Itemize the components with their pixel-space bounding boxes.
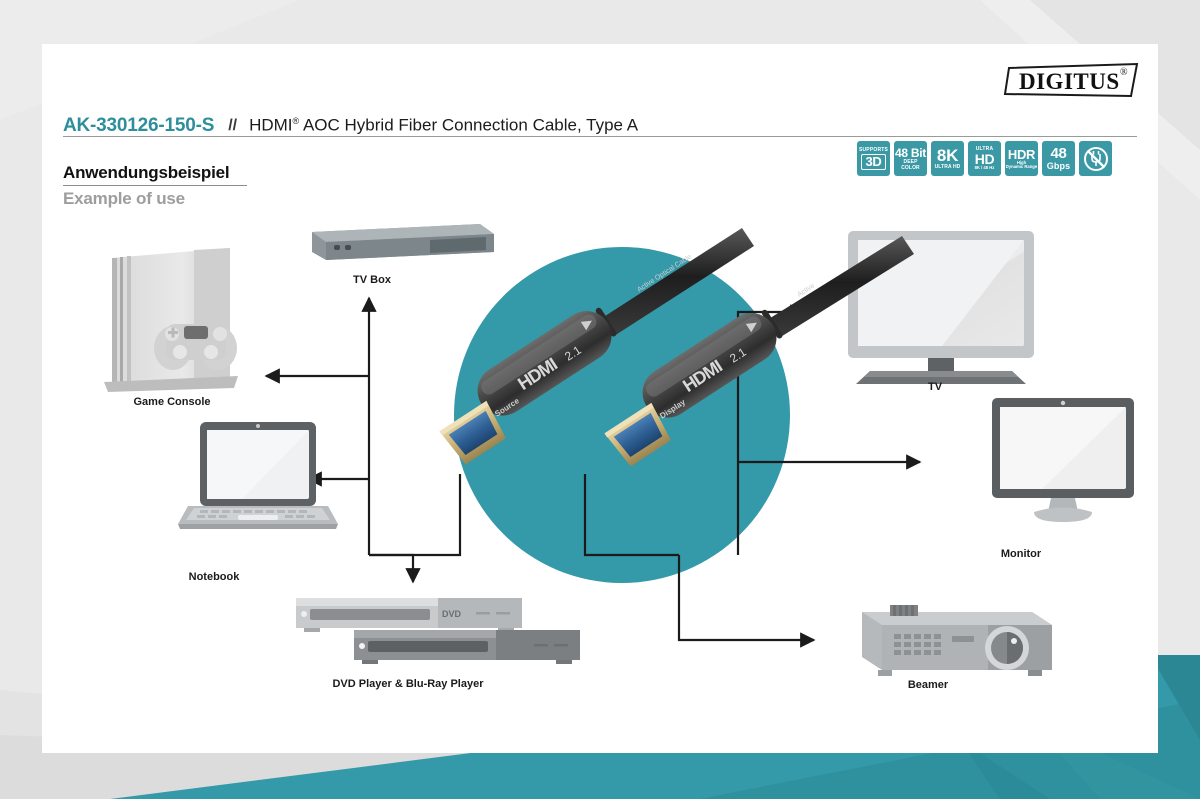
badge-hdr: HDR High Dynamic Range	[1005, 141, 1038, 176]
badge-hdr-main: HDR	[1008, 148, 1035, 161]
badge-48bit-main: 48 Bit	[895, 147, 926, 159]
section-heading-de: Anwendungsbeispiel	[63, 163, 229, 183]
label-beamer: Beamer	[908, 679, 948, 691]
device-beamer	[862, 605, 1052, 676]
diagram-canvas: DVD	[42, 200, 1158, 720]
section-heading-divider	[63, 185, 247, 186]
device-notebook	[178, 422, 338, 529]
badge-8k: 8K ULTRA HD	[931, 141, 964, 176]
product-name-post: AOC Hybrid Fiber Connection Cable, Type …	[299, 116, 638, 135]
badge-48gbps: 48 Gbps	[1042, 141, 1075, 176]
badge-3d: SUPPORTS 3D	[857, 141, 890, 176]
page-root: DIGITUS ® AK-330126-150-S // HDMI® AOC H…	[0, 0, 1200, 799]
digitus-logo: DIGITUS ®	[1003, 58, 1143, 102]
feature-badge-row: SUPPORTS 3D 48 Bit DEEP COLOR 8K ULTRA H…	[857, 141, 1112, 176]
label-game-console: Game Console	[133, 396, 210, 408]
logo-registered: ®	[1120, 67, 1128, 78]
badge-ultrahd-main: HD	[975, 152, 995, 166]
badge-3d-main: 3D	[865, 155, 881, 168]
application-diagram: DVD	[42, 200, 1158, 720]
title-divider	[63, 136, 1137, 137]
label-dvd-bluray: DVD Player & Blu-Ray Player	[332, 678, 483, 690]
product-sku: AK-330126-150-S	[63, 116, 214, 136]
label-monitor: Monitor	[1001, 548, 1041, 560]
no-interference-icon	[1082, 145, 1110, 173]
logo-text: DIGITUS	[1019, 69, 1120, 94]
device-monitor	[992, 398, 1134, 522]
badge-48bit: 48 Bit DEEP COLOR	[894, 141, 927, 176]
device-dvd-bluray: DVD	[296, 598, 580, 664]
dvd-logo-text: DVD	[442, 609, 462, 619]
label-notebook: Notebook	[189, 571, 240, 583]
product-title-row: AK-330126-150-S // HDMI® AOC Hybrid Fibe…	[63, 106, 1137, 136]
badge-48gbps-main: 48	[1050, 146, 1066, 161]
badge-48bit-sub2: COLOR	[901, 166, 920, 171]
badge-hdr-sub2: Dynamic Range	[1006, 165, 1037, 169]
badge-ultrahd-sub: 8K / 48 Hz	[975, 166, 995, 170]
badge-no-interference	[1079, 141, 1112, 176]
badge-48bit-sub: DEEP	[903, 160, 917, 165]
device-tv-box	[312, 224, 494, 260]
badge-8k-main: 8K	[937, 147, 958, 164]
device-game-console	[104, 248, 238, 392]
badge-3d-top: SUPPORTS	[859, 148, 888, 153]
label-tv-box: TV Box	[353, 274, 391, 286]
badge-8k-sub: ULTRA HD	[935, 165, 961, 170]
badge-ultrahd: ULTRA HD 8K / 48 Hz	[968, 141, 1001, 176]
title-separator: //	[228, 116, 237, 136]
badge-48gbps-sub: Gbps	[1047, 162, 1070, 171]
label-tv: TV	[928, 381, 942, 393]
product-name: HDMI® AOC Hybrid Fiber Connection Cable,…	[249, 111, 638, 136]
product-name-pre: HDMI	[249, 116, 292, 135]
